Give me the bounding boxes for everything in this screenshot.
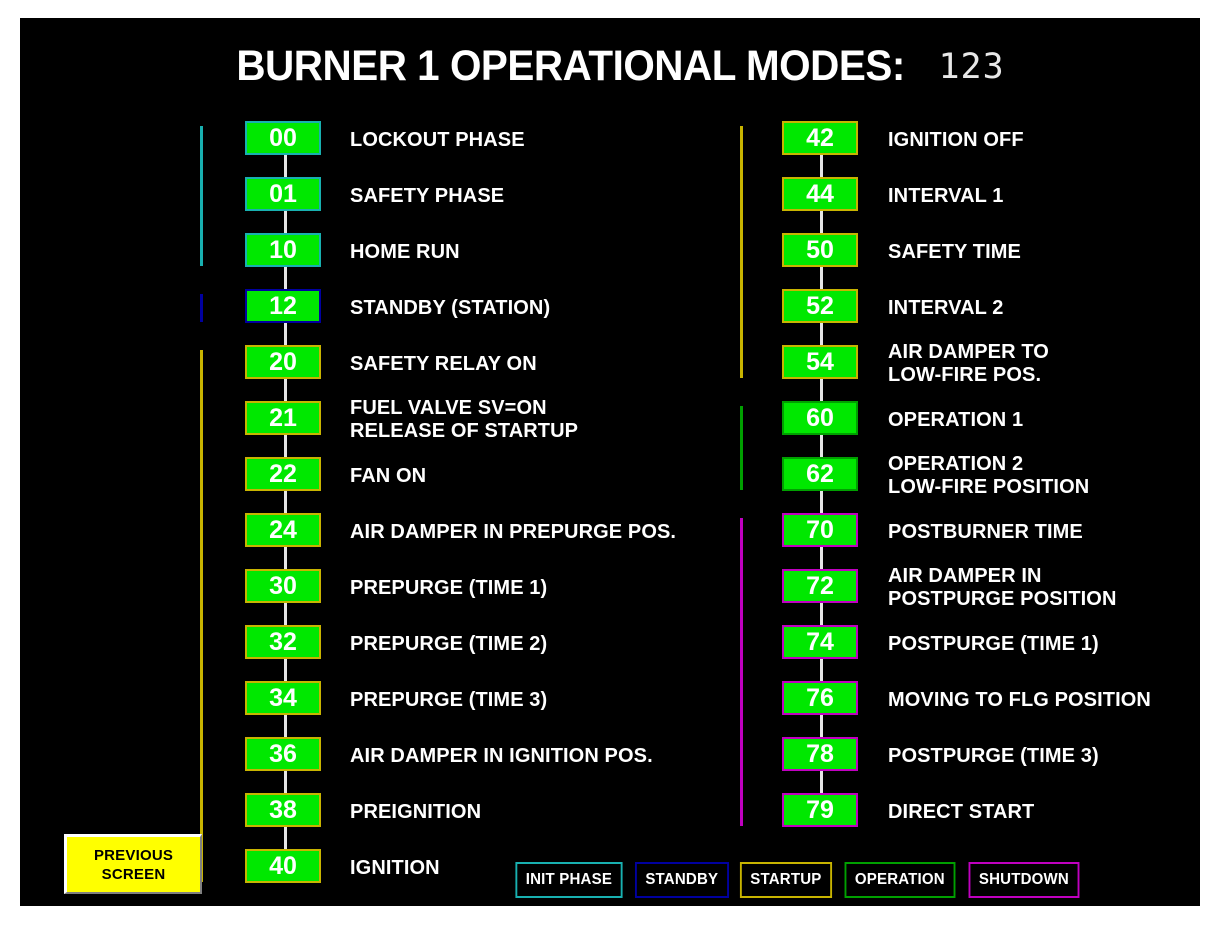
mode-label-line: PREPURGE (TIME 2) <box>350 633 547 656</box>
mode-label: PREPURGE (TIME 3) <box>350 672 547 728</box>
mode-row[interactable]: 12STANDBY (STATION) <box>200 280 760 336</box>
mode-code-box[interactable]: 78 <box>782 737 858 771</box>
mode-code-box[interactable]: 38 <box>245 793 321 827</box>
mode-row[interactable]: 42IGNITION OFF <box>740 112 1200 168</box>
mode-row[interactable]: 21FUEL VALVE SV=ONRELEASE OF STARTUP <box>200 392 760 448</box>
mode-code-box[interactable]: 50 <box>782 233 858 267</box>
mode-row[interactable]: 74POSTPURGE (TIME 1) <box>740 616 1200 672</box>
mode-label: IGNITION OFF <box>888 112 1024 168</box>
group-indicator-standby <box>200 294 203 322</box>
mode-code-box[interactable]: 76 <box>782 681 858 715</box>
mode-label-line: POSTPURGE POSITION <box>888 588 1117 611</box>
legend-item-operation: OPERATION <box>845 862 956 898</box>
mode-label-line: PREPURGE (TIME 1) <box>350 577 547 600</box>
mode-row[interactable]: 10HOME RUN <box>200 224 760 280</box>
mode-label-line: MOVING TO FLG POSITION <box>888 689 1151 712</box>
mode-label-line: PREPURGE (TIME 3) <box>350 689 547 712</box>
mode-label: STANDBY (STATION) <box>350 280 550 336</box>
mode-label-line: RELEASE OF STARTUP <box>350 420 578 443</box>
mode-code-box[interactable]: 21 <box>245 401 321 435</box>
mode-label: PREPURGE (TIME 2) <box>350 616 547 672</box>
mode-label: POSTPURGE (TIME 1) <box>888 616 1099 672</box>
mode-label-line: LOW-FIRE POS. <box>888 364 1049 387</box>
mode-code-box[interactable]: 60 <box>782 401 858 435</box>
mode-label: FAN ON <box>350 448 426 504</box>
mode-label-line: STANDBY (STATION) <box>350 297 550 320</box>
mode-label-line: POSTPURGE (TIME 1) <box>888 633 1099 656</box>
mode-label: MOVING TO FLG POSITION <box>888 672 1151 728</box>
mode-label: AIR DAMPER IN IGNITION POS. <box>350 728 653 784</box>
mode-label-line: FAN ON <box>350 465 426 488</box>
mode-label-line: OPERATION 2 <box>888 453 1089 476</box>
mode-label: INTERVAL 1 <box>888 168 1003 224</box>
mode-row[interactable]: 36AIR DAMPER IN IGNITION POS. <box>200 728 760 784</box>
mode-code-box[interactable]: 54 <box>782 345 858 379</box>
mode-label: PREPURGE (TIME 1) <box>350 560 547 616</box>
mode-label: SAFETY TIME <box>888 224 1021 280</box>
mode-code-box[interactable]: 72 <box>782 569 858 603</box>
mode-label-line: DIRECT START <box>888 801 1034 824</box>
mode-label: POSTPURGE (TIME 3) <box>888 728 1099 784</box>
mode-label-line: LOW-FIRE POSITION <box>888 476 1089 499</box>
mode-label-line: IGNITION <box>350 857 440 880</box>
hmi-window-frame: BURNER 1 OPERATIONAL MODES:123 00LOCKOUT… <box>0 0 1222 926</box>
mode-row[interactable]: 54AIR DAMPER TOLOW-FIRE POS. <box>740 336 1200 392</box>
mode-label: HOME RUN <box>350 224 460 280</box>
mode-code-box[interactable]: 22 <box>245 457 321 491</box>
mode-label: AIR DAMPER IN PREPURGE POS. <box>350 504 676 560</box>
mode-row[interactable]: 50SAFETY TIME <box>740 224 1200 280</box>
mode-row[interactable]: 24AIR DAMPER IN PREPURGE POS. <box>200 504 760 560</box>
mode-code-box[interactable]: 24 <box>245 513 321 547</box>
group-indicator-shutdown <box>740 518 743 826</box>
mode-code-box[interactable]: 52 <box>782 289 858 323</box>
mode-label-line: OPERATION 1 <box>888 409 1023 432</box>
mode-list-left: 00LOCKOUT PHASE01SAFETY PHASE10HOME RUN1… <box>200 112 760 896</box>
mode-label-line: INTERVAL 1 <box>888 185 1003 208</box>
mode-label-line: AIR DAMPER TO <box>888 341 1049 364</box>
mode-code-box[interactable]: 42 <box>782 121 858 155</box>
mode-code-box[interactable]: 01 <box>245 177 321 211</box>
mode-label: SAFETY PHASE <box>350 168 504 224</box>
group-indicator-init-phase <box>200 126 203 266</box>
mode-row[interactable]: 72AIR DAMPER INPOSTPURGE POSITION <box>740 560 1200 616</box>
page-title: BURNER 1 OPERATIONAL MODES:123 <box>20 42 1200 91</box>
group-indicator-operation <box>740 406 743 490</box>
mode-row[interactable]: 22FAN ON <box>200 448 760 504</box>
mode-code-box[interactable]: 62 <box>782 457 858 491</box>
mode-label-line: FUEL VALVE SV=ON <box>350 397 578 420</box>
mode-code-box[interactable]: 00 <box>245 121 321 155</box>
mode-code-box[interactable]: 20 <box>245 345 321 379</box>
mode-code-box[interactable]: 32 <box>245 625 321 659</box>
legend-item-shutdown: SHUTDOWN <box>968 862 1079 898</box>
mode-row[interactable]: 70POSTBURNER TIME <box>740 504 1200 560</box>
mode-code-box[interactable]: 74 <box>782 625 858 659</box>
mode-label: SAFETY RELAY ON <box>350 336 537 392</box>
mode-row[interactable]: 32PREPURGE (TIME 2) <box>200 616 760 672</box>
mode-label-line: SAFETY RELAY ON <box>350 353 537 376</box>
hmi-screen: BURNER 1 OPERATIONAL MODES:123 00LOCKOUT… <box>20 18 1200 906</box>
mode-label: AIR DAMPER INPOSTPURGE POSITION <box>888 560 1117 616</box>
mode-row[interactable]: 78POSTPURGE (TIME 3) <box>740 728 1200 784</box>
mode-label: IGNITION <box>350 840 440 896</box>
mode-label-line: AIR DAMPER IN PREPURGE POS. <box>350 521 676 544</box>
mode-row[interactable]: 20SAFETY RELAY ON <box>200 336 760 392</box>
mode-row[interactable]: 00LOCKOUT PHASE <box>200 112 760 168</box>
mode-label-line: AIR DAMPER IN IGNITION POS. <box>350 745 653 768</box>
page-title-value: 123 <box>938 47 1004 87</box>
group-indicator-startup <box>200 350 203 882</box>
mode-label-line: AIR DAMPER IN <box>888 565 1117 588</box>
mode-row[interactable]: 79DIRECT START <box>740 784 1200 840</box>
mode-row[interactable]: 60OPERATION 1 <box>740 392 1200 448</box>
mode-row[interactable]: 62OPERATION 2LOW-FIRE POSITION <box>740 448 1200 504</box>
mode-label-line: LOCKOUT PHASE <box>350 129 525 152</box>
mode-code-box[interactable]: 34 <box>245 681 321 715</box>
group-legend: INIT PHASESTANDBYSTARTUPOPERATIONSHUTDOW… <box>512 862 1083 898</box>
mode-code-box[interactable]: 44 <box>782 177 858 211</box>
mode-label: LOCKOUT PHASE <box>350 112 525 168</box>
legend-item-startup: STARTUP <box>740 862 832 898</box>
mode-label: INTERVAL 2 <box>888 280 1003 336</box>
previous-screen-button-line1: PREVIOUS <box>94 846 173 865</box>
mode-label: POSTBURNER TIME <box>888 504 1083 560</box>
legend-item-standby: STANDBY <box>635 862 729 898</box>
mode-row[interactable]: 76MOVING TO FLG POSITION <box>740 672 1200 728</box>
group-indicator-startup <box>740 126 743 378</box>
mode-label: OPERATION 1 <box>888 392 1023 448</box>
mode-label: PREIGNITION <box>350 784 481 840</box>
mode-label-line: POSTBURNER TIME <box>888 521 1083 544</box>
mode-row[interactable]: 44INTERVAL 1 <box>740 168 1200 224</box>
mode-code-box[interactable]: 36 <box>245 737 321 771</box>
mode-code-box[interactable]: 12 <box>245 289 321 323</box>
mode-label: FUEL VALVE SV=ONRELEASE OF STARTUP <box>350 392 578 448</box>
previous-screen-button[interactable]: PREVIOUS SCREEN <box>64 834 202 894</box>
mode-label: OPERATION 2LOW-FIRE POSITION <box>888 448 1089 504</box>
mode-code-box[interactable]: 10 <box>245 233 321 267</box>
mode-label-line: PREIGNITION <box>350 801 481 824</box>
page-title-text: BURNER 1 OPERATIONAL MODES: <box>237 42 906 91</box>
mode-row[interactable]: 34PREPURGE (TIME 3) <box>200 672 760 728</box>
mode-row[interactable]: 30PREPURGE (TIME 1) <box>200 560 760 616</box>
mode-label-line: SAFETY PHASE <box>350 185 504 208</box>
mode-label-line: IGNITION OFF <box>888 129 1024 152</box>
legend-item-init-phase: INIT PHASE <box>515 862 622 898</box>
mode-label: AIR DAMPER TOLOW-FIRE POS. <box>888 336 1049 392</box>
mode-row[interactable]: 52INTERVAL 2 <box>740 280 1200 336</box>
mode-code-box[interactable]: 70 <box>782 513 858 547</box>
mode-row[interactable]: 01SAFETY PHASE <box>200 168 760 224</box>
mode-row[interactable]: 38PREIGNITION <box>200 784 760 840</box>
mode-code-box[interactable]: 30 <box>245 569 321 603</box>
mode-label: DIRECT START <box>888 784 1034 840</box>
mode-code-box[interactable]: 40 <box>245 849 321 883</box>
mode-label-line: SAFETY TIME <box>888 241 1021 264</box>
mode-code-box[interactable]: 79 <box>782 793 858 827</box>
mode-label-line: POSTPURGE (TIME 3) <box>888 745 1099 768</box>
mode-label-line: HOME RUN <box>350 241 460 264</box>
mode-label-line: INTERVAL 2 <box>888 297 1003 320</box>
mode-list-right: 42IGNITION OFF44INTERVAL 150SAFETY TIME5… <box>740 112 1200 840</box>
previous-screen-button-line2: SCREEN <box>102 865 166 884</box>
